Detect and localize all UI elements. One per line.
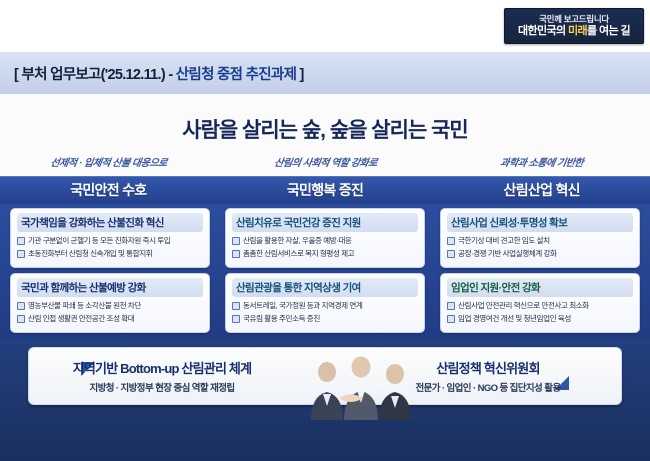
title-bar: [ 부처 업무보고('25.12.11.) - 산림청 중점 추진과제 ] — [0, 52, 650, 95]
subheader-1: 선제적 · 입체적 산불 대응으로 — [0, 154, 218, 176]
top-strip: 국민께 보고드립니다 대한민국의 미래를 여는 길 — [0, 0, 650, 52]
card-heading: 국민과 함께하는 산불예방 강화 — [17, 278, 203, 297]
column-industry: 산림사업 신뢰성·투명성 확보 극한기상 대비 견고한 임도 설치 공정·경쟁 … — [440, 208, 640, 333]
bottom-banner: 지역기반 Bottom-up 산림관리 체계 지방청 · 지방정부 현장 중심 … — [28, 347, 622, 405]
card-heading: 임업인 지원·안전 강화 — [447, 278, 633, 297]
badge-line-2-highlight: 미래 — [568, 25, 587, 37]
government-report-badge: 국민께 보고드립니다 대한민국의 미래를 여는 길 — [504, 8, 644, 44]
bullet-item: 극한기상 대비 견고한 임도 설치 — [447, 235, 633, 246]
bullet-text: 초동진화부터 산림청 신속개입 및 통합지휘 — [28, 248, 152, 259]
bullet-item: 공정·경쟁 기반 사업실행체계 강화 — [447, 248, 633, 259]
task-card-panel: 국가책임을 강화하는 산불진화 혁신 기관 구분없이 군헬기 등 모든 진화자원… — [0, 204, 650, 339]
badge-line-2-pre: 대한민국의 — [518, 25, 568, 37]
bullet-item: 초동진화부터 산림청 신속개입 및 통합지휘 — [17, 248, 203, 259]
checkbox-icon — [17, 237, 25, 245]
task-card: 국가책임을 강화하는 산불진화 혁신 기관 구분없이 군헬기 등 모든 진화자원… — [10, 208, 210, 268]
checkbox-icon — [17, 315, 25, 323]
bullet-item: 임업 경영여건 개선 및 청년임업인 육성 — [447, 313, 633, 324]
bottom-right-block: 산림정책 혁신위원회 전문가 · 임업인 · NGO 등 집단지성 활용 — [373, 358, 603, 394]
column-happiness: 산림치유로 국민건강 증진 지원 산림을 활용한 자살, 우울증 예방·대응 촘… — [225, 208, 425, 333]
checkbox-icon — [447, 237, 455, 245]
checkbox-icon — [232, 315, 240, 323]
bullet-list: 산림사업 안전관리 혁신으로 안전사고 최소화 임업 경영여건 개선 및 청년임… — [447, 300, 633, 324]
checkbox-icon — [447, 315, 455, 323]
bottom-right-subtitle: 전문가 · 임업인 · NGO 등 집단지성 활용 — [373, 380, 603, 394]
bullet-text: 국유림 활용 주민소득 증진 — [243, 313, 320, 324]
bullet-text: 촘촘한 산림서비스로 복지 형평성 제고 — [243, 248, 354, 259]
infographic-page: 국민께 보고드립니다 대한민국의 미래를 여는 길 [ 부처 업무보고('25.… — [0, 0, 650, 461]
checkbox-icon — [17, 302, 25, 310]
task-card: 산림치유로 국민건강 증진 지원 산림을 활용한 자살, 우울증 예방·대응 촘… — [225, 208, 425, 268]
bottom-zone: 지역기반 Bottom-up 산림관리 체계 지방청 · 지방정부 현장 중심 … — [0, 339, 650, 461]
bottom-left-subtitle: 지방청 · 지방정부 현장 중심 역할 재정립 — [47, 380, 277, 394]
bullet-text: 산림을 활용한 자살, 우울증 예방·대응 — [243, 235, 351, 246]
checkbox-icon — [232, 237, 240, 245]
bullet-text: 극한기상 대비 견고한 임도 설치 — [458, 235, 550, 246]
bottom-left-block: 지역기반 Bottom-up 산림관리 체계 지방청 · 지방정부 현장 중심 … — [47, 358, 277, 394]
checkbox-icon — [232, 250, 240, 258]
bullet-text: 산림 인접 생활권 안전공간 조성 확대 — [28, 313, 134, 324]
bullet-list: 동서트레일, 국가정원 등과 지역경제 연계 국유림 활용 주민소득 증진 — [232, 300, 418, 324]
subheader-2: 산림의 사회적 역할 강화로 — [215, 154, 435, 176]
bullet-list: 기관 구분없이 군헬기 등 모든 진화자원 즉시 투입 초동진화부터 산림청 신… — [17, 235, 203, 259]
checkbox-icon — [232, 302, 240, 310]
task-card: 임업인 지원·안전 강화 산림사업 안전관리 혁신으로 안전사고 최소화 임업 … — [440, 273, 640, 333]
bullet-text: 공정·경쟁 기반 사업실행체계 강화 — [458, 248, 557, 259]
subheader-row: 선제적 · 입체적 산불 대응으로 산림의 사회적 역할 강화로 과학과 소통에… — [0, 154, 650, 176]
bullet-text: 임업 경영여건 개선 및 청년임업인 육성 — [458, 313, 571, 324]
bullet-text: 산림사업 안전관리 혁신으로 안전사고 최소화 — [458, 300, 589, 311]
bullet-list: 영농부산물 파쇄 등 소각산불 원천 차단 산림 인접 생활권 안전공간 조성 … — [17, 300, 203, 324]
card-heading: 산림치유로 국민건강 증진 지원 — [232, 213, 418, 232]
bullet-item: 기관 구분없이 군헬기 등 모든 진화자원 즉시 투입 — [17, 235, 203, 246]
checkbox-icon — [447, 302, 455, 310]
bullet-item: 촘촘한 산림서비스로 복지 형평성 제고 — [232, 248, 418, 259]
checkbox-icon — [447, 250, 455, 258]
bottom-right-title: 산림정책 혁신위원회 — [373, 358, 603, 377]
bullet-item: 국유림 활용 주민소득 증진 — [232, 313, 418, 324]
pillar-1: 국민안전 수호 — [0, 180, 217, 200]
card-heading: 산림관광을 통한 지역상생 기여 — [232, 278, 418, 297]
title-prefix: [ 부처 업무보고('25.12.11.) - — [14, 67, 176, 83]
task-card: 산림관광을 통한 지역상생 기여 동서트레일, 국가정원 등과 지역경제 연계 … — [225, 273, 425, 333]
bullet-item: 산림을 활용한 자살, 우울증 예방·대응 — [232, 235, 418, 246]
pillar-bar: 국민안전 수호 국민행복 증진 산림산업 혁신 — [0, 176, 650, 204]
bullet-text: 동서트레일, 국가정원 등과 지역경제 연계 — [243, 300, 362, 311]
bullet-text: 영농부산물 파쇄 등 소각산불 원천 차단 — [28, 300, 141, 311]
bullet-list: 극한기상 대비 견고한 임도 설치 공정·경쟁 기반 사업실행체계 강화 — [447, 235, 633, 259]
badge-line-2: 대한민국의 미래를 여는 길 — [518, 25, 630, 38]
badge-line-2-post: 를 여는 길 — [587, 25, 630, 37]
bullet-item: 영농부산물 파쇄 등 소각산불 원천 차단 — [17, 300, 203, 311]
subheader-3: 과학과 소통에 기반한 — [432, 154, 650, 176]
bullet-text: 기관 구분없이 군헬기 등 모든 진화자원 즉시 투입 — [28, 235, 170, 246]
main-slogan: 사람을 살리는 숲, 숲을 살리는 국민 — [0, 114, 650, 144]
title-accent: 산림청 중점 추진과제 — [176, 67, 296, 83]
bottom-left-title: 지역기반 Bottom-up 산림관리 체계 — [47, 358, 277, 377]
pillar-3: 산림산업 혁신 — [433, 180, 650, 200]
column-safety: 국가책임을 강화하는 산불진화 혁신 기관 구분없이 군헬기 등 모든 진화자원… — [10, 208, 210, 333]
card-heading: 국가책임을 강화하는 산불진화 혁신 — [17, 213, 203, 232]
bullet-list: 산림을 활용한 자살, 우울증 예방·대응 촘촘한 산림서비스로 복지 형평성 … — [232, 235, 418, 259]
card-heading: 산림사업 신뢰성·투명성 확보 — [447, 213, 633, 232]
page-title: [ 부처 업무보고('25.12.11.) - 산림청 중점 추진과제 ] — [14, 63, 304, 84]
badge-line-1: 국민께 보고드립니다 — [539, 14, 609, 25]
checkbox-icon — [17, 250, 25, 258]
bullet-item: 산림사업 안전관리 혁신으로 안전사고 최소화 — [447, 300, 633, 311]
pillar-2: 국민행복 증진 — [217, 180, 434, 200]
task-card: 국민과 함께하는 산불예방 강화 영농부산물 파쇄 등 소각산불 원천 차단 산… — [10, 273, 210, 333]
bullet-item: 동서트레일, 국가정원 등과 지역경제 연계 — [232, 300, 418, 311]
task-card: 산림사업 신뢰성·투명성 확보 극한기상 대비 견고한 임도 설치 공정·경쟁 … — [440, 208, 640, 268]
title-suffix: ] — [296, 67, 303, 83]
bullet-item: 산림 인접 생활권 안전공간 조성 확대 — [17, 313, 203, 324]
